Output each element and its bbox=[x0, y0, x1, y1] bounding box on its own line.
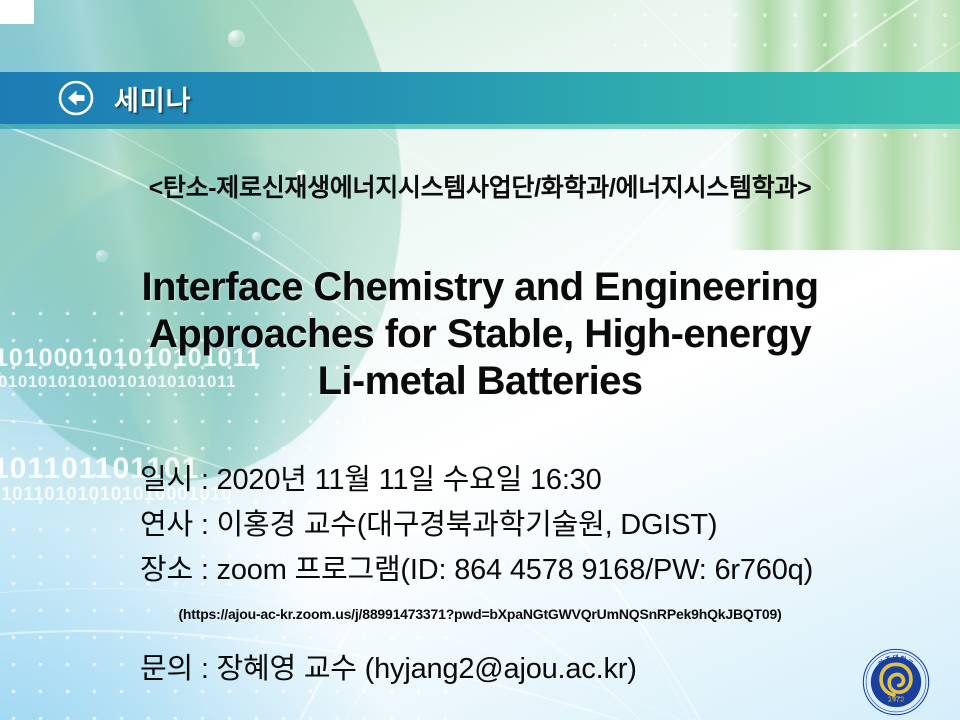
zoom-url-link[interactable]: (https://ajou-ac-kr.zoom.us/j/8899147337… bbox=[0, 606, 960, 622]
ajou-university-logo: 1973 아주대학교 AJOU UNIVERSITY bbox=[862, 648, 930, 716]
contact-line: 문의 : 장혜영 교수 (hyjang2@ajou.ac.kr) bbox=[140, 645, 637, 687]
info-datetime: 일시 : 2020년 11월 11일 수요일 16:30 bbox=[140, 458, 960, 503]
seminar-info-block: 일시 : 2020년 11월 11일 수요일 16:30 연사 : 이홍경 교수… bbox=[140, 458, 960, 593]
poster-content: <탄소-제로신재생에너지시스템사업단/화학과/에너지시스템학과> Interfa… bbox=[0, 0, 960, 720]
title-line-3: Li-metal Batteries bbox=[20, 358, 940, 405]
department-line: <탄소-제로신재생에너지시스템사업단/화학과/에너지시스템학과> bbox=[0, 168, 960, 204]
title-line-1: Interface Chemistry and Engineering bbox=[20, 264, 940, 311]
seminar-poster: 101000101010101011 101010101010010101010… bbox=[0, 0, 960, 720]
info-venue: 장소 : zoom 프로그램(ID: 864 4578 9168/PW: 6r7… bbox=[140, 548, 960, 593]
title-line-2: Approaches for Stable, High-energy bbox=[20, 311, 940, 358]
page-title: Interface Chemistry and Engineering Appr… bbox=[20, 264, 940, 405]
info-speaker: 연사 : 이홍경 교수(대구경북과학기술원, DGIST) bbox=[140, 503, 960, 548]
